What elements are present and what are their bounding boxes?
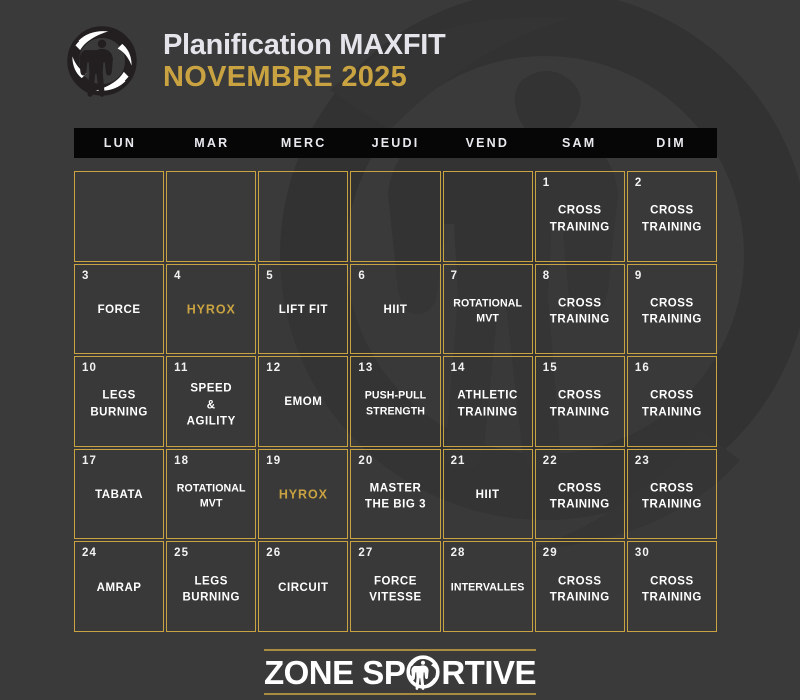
workout-label: CROSS TRAINING — [630, 573, 714, 606]
day-number: 20 — [358, 455, 373, 467]
footer-rule-bottom — [264, 693, 536, 695]
calendar-day-cell[interactable]: 14ATHLETIC TRAINING — [443, 356, 533, 447]
day-number: 5 — [266, 270, 274, 282]
calendar-day-cell[interactable]: 8CROSS TRAINING — [535, 264, 625, 355]
weekday-label-dim: DIM — [625, 136, 717, 150]
calendar-cell-empty — [350, 171, 440, 262]
workout-label: FORCE VITESSE — [353, 573, 437, 606]
workout-label: ATHLETIC TRAINING — [446, 388, 530, 421]
calendar-day-cell[interactable]: 15CROSS TRAINING — [535, 356, 625, 447]
day-number: 28 — [451, 547, 466, 559]
calendar-day-cell[interactable]: 21HIIT — [443, 449, 533, 540]
day-number: 29 — [543, 547, 558, 559]
workout-label: LIFT FIT — [261, 302, 345, 318]
workout-label: ROTATIONAL MVT — [446, 296, 530, 326]
calendar-day-cell[interactable]: 20MASTER THE BIG 3 — [350, 449, 440, 540]
day-number: 17 — [82, 455, 97, 467]
workout-label: ROTATIONAL MVT — [169, 481, 253, 511]
day-number: 15 — [543, 362, 558, 374]
day-number: 4 — [174, 270, 182, 282]
calendar-day-cell[interactable]: 27FORCE VITESSE — [350, 541, 440, 632]
day-number: 23 — [635, 455, 650, 467]
calendar-day-cell[interactable]: 6HIIT — [350, 264, 440, 355]
workout-label: TABATA — [77, 487, 161, 503]
calendar-day-cell[interactable]: 18ROTATIONAL MVT — [166, 449, 256, 540]
day-number: 12 — [266, 362, 281, 374]
calendar-cell-empty — [74, 171, 164, 262]
day-number: 19 — [266, 455, 281, 467]
workout-label: CROSS TRAINING — [630, 480, 714, 513]
day-number: 7 — [451, 270, 459, 282]
zone-sportive-logo-icon — [63, 22, 141, 100]
day-number: 16 — [635, 362, 650, 374]
day-number: 21 — [451, 455, 466, 467]
calendar-day-cell[interactable]: 7ROTATIONAL MVT — [443, 264, 533, 355]
workout-label: INTERVALLES — [446, 580, 530, 595]
workout-label: CROSS TRAINING — [538, 388, 622, 421]
footer-word-right: RTIVE — [441, 656, 536, 689]
header-titles: Planification MAXFIT NOVEMBRE 2025 — [163, 29, 445, 94]
day-number: 1 — [543, 177, 551, 189]
day-number: 10 — [82, 362, 97, 374]
calendar-day-cell[interactable]: 30CROSS TRAINING — [627, 541, 717, 632]
workout-label: CROSS TRAINING — [538, 480, 622, 513]
weekday-label-lun: LUN — [74, 136, 166, 150]
day-number: 8 — [543, 270, 551, 282]
page-subtitle: NOVEMBRE 2025 — [163, 61, 445, 93]
workout-label: CROSS TRAINING — [538, 295, 622, 328]
footer-logo-icon — [403, 652, 443, 692]
workout-label: CIRCUIT — [261, 580, 345, 596]
calendar-day-cell[interactable]: 25LEGS BURNING — [166, 541, 256, 632]
calendar-day-cell[interactable]: 5LIFT FIT — [258, 264, 348, 355]
day-number: 6 — [358, 270, 366, 282]
workout-label: CROSS TRAINING — [630, 388, 714, 421]
calendar-day-cell[interactable]: 13PUSH-PULL STRENGTH — [350, 356, 440, 447]
calendar-day-cell[interactable]: 11SPEED & AGILITY — [166, 356, 256, 447]
calendar-day-cell[interactable]: 17TABATA — [74, 449, 164, 540]
day-number: 2 — [635, 177, 643, 189]
workout-label: HYROX — [169, 301, 253, 319]
workout-label: HIIT — [353, 302, 437, 318]
day-number: 22 — [543, 455, 558, 467]
calendar-day-cell[interactable]: 22CROSS TRAINING — [535, 449, 625, 540]
workout-label: HIIT — [446, 487, 530, 503]
day-number: 25 — [174, 547, 189, 559]
calendar-day-cell[interactable]: 26CIRCUIT — [258, 541, 348, 632]
calendar-day-cell[interactable]: 28INTERVALLES — [443, 541, 533, 632]
page-title: Planification MAXFIT — [163, 29, 445, 61]
day-number: 18 — [174, 455, 189, 467]
workout-label: CROSS TRAINING — [538, 573, 622, 606]
calendar-day-cell[interactable]: 23CROSS TRAINING — [627, 449, 717, 540]
footer-wordmark: ZONE SP RTIVE — [264, 652, 536, 692]
day-number: 27 — [358, 547, 373, 559]
calendar-cell-empty — [258, 171, 348, 262]
workout-label: CROSS TRAINING — [538, 203, 622, 236]
footer-rule-top — [264, 649, 536, 651]
workout-label: PUSH-PULL STRENGTH — [353, 389, 437, 419]
calendar-poster: Planification MAXFIT NOVEMBRE 2025 LUNMA… — [0, 0, 800, 700]
workout-label: LEGS BURNING — [77, 388, 161, 421]
weekday-label-vend: VEND — [441, 136, 533, 150]
calendar-day-cell[interactable]: 2CROSS TRAINING — [627, 171, 717, 262]
poster-footer: ZONE SP RTIVE — [0, 644, 800, 700]
calendar-day-cell[interactable]: 9CROSS TRAINING — [627, 264, 717, 355]
calendar-day-cell[interactable]: 3FORCE — [74, 264, 164, 355]
workout-label: CROSS TRAINING — [630, 203, 714, 236]
calendar-day-cell[interactable]: 29CROSS TRAINING — [535, 541, 625, 632]
calendar-day-cell[interactable]: 4HYROX — [166, 264, 256, 355]
workout-label: SPEED & AGILITY — [169, 381, 253, 430]
workout-label: LEGS BURNING — [169, 573, 253, 606]
workout-label: AMRAP — [77, 580, 161, 596]
day-number: 30 — [635, 547, 650, 559]
calendar-grid: 1CROSS TRAINING2CROSS TRAINING3FORCE4HYR… — [74, 171, 717, 632]
day-number: 3 — [82, 270, 90, 282]
calendar-day-cell[interactable]: 16CROSS TRAINING — [627, 356, 717, 447]
day-number: 24 — [82, 547, 97, 559]
day-number: 26 — [266, 547, 281, 559]
calendar-day-cell[interactable]: 10LEGS BURNING — [74, 356, 164, 447]
calendar-day-cell[interactable]: 19HYROX — [258, 449, 348, 540]
workout-label: EMOM — [261, 395, 345, 411]
workout-label: CROSS TRAINING — [630, 295, 714, 328]
workout-label: HYROX — [261, 487, 345, 505]
calendar-day-cell[interactable]: 12EMOM — [258, 356, 348, 447]
calendar-cell-empty — [443, 171, 533, 262]
weekday-label-mar: MAR — [166, 136, 258, 150]
day-number: 13 — [358, 362, 373, 374]
weekday-label-sam: SAM — [533, 136, 625, 150]
footer-word-left: ZONE SP — [264, 656, 405, 689]
day-number: 9 — [635, 270, 643, 282]
weekday-label-jeudi: JEUDI — [350, 136, 442, 150]
day-number: 11 — [174, 362, 188, 374]
calendar-day-cell[interactable]: 24AMRAP — [74, 541, 164, 632]
calendar-day-cell[interactable]: 1CROSS TRAINING — [535, 171, 625, 262]
weekday-label-merc: MERC — [258, 136, 350, 150]
calendar-cell-empty — [166, 171, 256, 262]
day-number: 14 — [451, 362, 466, 374]
poster-header: Planification MAXFIT NOVEMBRE 2025 — [0, 0, 800, 122]
weekday-header-bar: LUNMARMERCJEUDIVENDSAMDIM — [74, 128, 717, 158]
workout-label: FORCE — [77, 302, 161, 318]
workout-label: MASTER THE BIG 3 — [353, 480, 437, 513]
